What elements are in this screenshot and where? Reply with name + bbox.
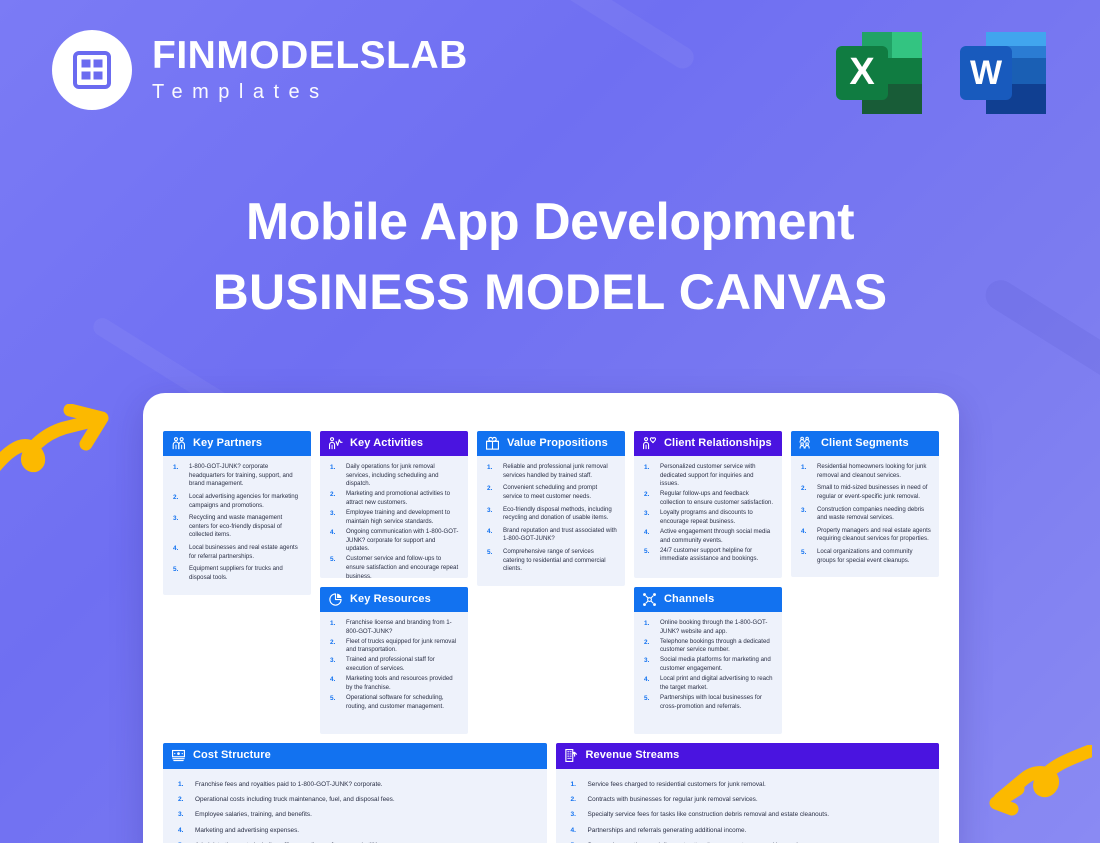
list-item: Marketing and advertising expenses.: [169, 827, 537, 835]
block-key-resources[interactable]: Key Resources Franchise license and bran…: [320, 587, 468, 734]
list-item: Marketing and promotional activities to …: [327, 490, 460, 507]
block-item-list: Reliable and professional junk removal s…: [484, 463, 617, 574]
list-item: Local organizations and community groups…: [798, 548, 931, 565]
block-item-list: Online booking through the 1-800-GOT-JUN…: [641, 619, 774, 711]
block-item-list: Personalized customer service with dedic…: [641, 463, 774, 564]
list-item: Service fees charged to residential cust…: [562, 781, 930, 789]
block-title: Revenue Streams: [586, 749, 680, 762]
block-title: Key Partners: [193, 437, 262, 450]
list-item: Partnerships and referrals generating ad…: [562, 827, 930, 835]
list-item: Loyalty programs and discounts to encour…: [641, 509, 774, 526]
list-item: 1-800-GOT-JUNK? corporate headquarters f…: [170, 463, 303, 489]
list-item: Ongoing communication with 1-800-GOT-JUN…: [327, 528, 460, 554]
person-activity-icon: [328, 436, 343, 451]
block-channels[interactable]: Channels Online booking through the 1-80…: [634, 587, 782, 734]
svg-text:W: W: [970, 54, 1003, 92]
block-header: Key Activities: [320, 431, 468, 456]
list-item: Reliable and professional junk removal s…: [484, 463, 617, 480]
list-item: Recycling and waste management centers f…: [170, 514, 303, 540]
list-item: Franchise license and branding from 1-80…: [327, 619, 460, 636]
block-title: Value Propositions: [507, 437, 608, 450]
list-item: Small to mid-sized businesses in need of…: [798, 484, 931, 501]
list-item: Property managers and real estate agents…: [798, 527, 931, 544]
list-item: Trained and professional staff for execu…: [327, 656, 460, 673]
block-key-partners[interactable]: Key Partners 1-800-GOT-JUNK? corporate h…: [163, 431, 311, 595]
canvas-top-grid: Key Partners 1-800-GOT-JUNK? corporate h…: [163, 431, 939, 734]
canvas-column-2: Key Activities Daily operations for junk…: [320, 431, 468, 734]
file-format-icons: X W: [832, 28, 1050, 120]
canvas-column-3: Value Propositions Reliable and professi…: [477, 431, 625, 734]
block-item-list: Service fees charged to residential cust…: [562, 781, 930, 843]
canvas-bottom-grid: Cost Structure Franchise fees and royalt…: [163, 743, 939, 843]
list-item: Residential homeowners looking for junk …: [798, 463, 931, 480]
page-subtitle: BUSINESS MODEL CANVAS: [0, 261, 1100, 324]
list-item: Partnerships with local businesses for c…: [641, 694, 774, 711]
list-item: Brand reputation and trust associated wi…: [484, 527, 617, 544]
squiggle-arrow-up-right-icon: [0, 404, 122, 487]
block-item-list: Daily operations for junk removal servic…: [327, 463, 460, 578]
list-item: Construction companies needing debris an…: [798, 506, 931, 523]
list-item: Operational costs including truck mainte…: [169, 796, 537, 804]
block-item-list: Franchise license and branding from 1-80…: [327, 619, 460, 711]
svg-text:X: X: [849, 51, 875, 93]
list-item: Equipment suppliers for trucks and dispo…: [170, 565, 303, 582]
building-arrow-icon: [564, 748, 579, 763]
block-body: 1-800-GOT-JUNK? corporate headquarters f…: [163, 456, 311, 595]
list-item: Online booking through the 1-800-GOT-JUN…: [641, 619, 774, 636]
block-item-list: Residential homeowners looking for junk …: [798, 463, 931, 565]
list-item: Regular follow-ups and feedback collecti…: [641, 490, 774, 507]
brand-subtitle: Templates: [152, 81, 468, 104]
list-item: Local advertising agencies for marketing…: [170, 493, 303, 510]
poster-canvas: FINMODELSLAB Templates X W: [0, 0, 1100, 843]
block-header: Key Resources: [320, 587, 468, 612]
block-header: Client Segments: [791, 431, 939, 456]
list-item: Social media platforms for marketing and…: [641, 656, 774, 673]
block-key-activities[interactable]: Key Activities Daily operations for junk…: [320, 431, 468, 578]
money-bill-icon: [171, 748, 186, 763]
block-body: Daily operations for junk removal servic…: [320, 456, 468, 578]
list-item: Franchise fees and royalties paid to 1-8…: [169, 781, 537, 789]
list-item: Specialty service fees for tasks like co…: [562, 811, 930, 819]
people-group-icon: [799, 436, 814, 451]
block-body: Service fees charged to residential cust…: [556, 769, 940, 843]
business-model-canvas-card: Key Partners 1-800-GOT-JUNK? corporate h…: [143, 393, 959, 843]
block-item-list: Franchise fees and royalties paid to 1-8…: [169, 781, 537, 843]
squiggle-arrow-down-left-icon: [966, 745, 1092, 822]
list-item: Employee salaries, training, and benefit…: [169, 811, 537, 819]
excel-icon: X: [832, 28, 926, 120]
brand-name: FINMODELSLAB: [152, 36, 468, 77]
block-body: Franchise license and branding from 1-80…: [320, 612, 468, 734]
pie-chart-icon: [328, 592, 343, 607]
block-header: Value Propositions: [477, 431, 625, 456]
title-block: Mobile App Development BUSINESS MODEL CA…: [0, 192, 1100, 324]
block-title: Channels: [664, 593, 714, 606]
canvas-column-4: Client Relationships Personalized custom…: [634, 431, 782, 734]
list-item: Local print and digital advertising to r…: [641, 675, 774, 692]
brand-logo: FINMODELSLAB Templates: [52, 30, 468, 110]
block-header: Client Relationships: [634, 431, 782, 456]
gift-icon: [485, 436, 500, 451]
block-value-propositions[interactable]: Value Propositions Reliable and professi…: [477, 431, 625, 586]
list-item: Customer service and follow-ups to ensur…: [327, 555, 460, 577]
list-item: Fleet of trucks equipped for junk remova…: [327, 638, 460, 655]
block-cost-structure[interactable]: Cost Structure Franchise fees and royalt…: [163, 743, 547, 843]
list-item: Eco-friendly disposal methods, including…: [484, 506, 617, 523]
person-heart-icon: [642, 436, 657, 451]
block-header: Key Partners: [163, 431, 311, 456]
block-title: Key Resources: [350, 593, 431, 606]
list-item: Telephone bookings through a dedicated c…: [641, 638, 774, 655]
grid-window-icon: [72, 50, 112, 90]
block-title: Client Relationships: [664, 437, 772, 450]
network-nodes-icon: [642, 592, 657, 607]
block-header: Revenue Streams: [556, 743, 940, 769]
logo-circle: [52, 30, 132, 110]
block-revenue-streams[interactable]: Revenue Streams Service fees charged to …: [556, 743, 940, 843]
block-header: Cost Structure: [163, 743, 547, 769]
list-item: Active engagement through social media a…: [641, 528, 774, 545]
block-body: Personalized customer service with dedic…: [634, 456, 782, 578]
list-item: Daily operations for junk removal servic…: [327, 463, 460, 489]
block-title: Cost Structure: [193, 749, 271, 762]
block-body: Reliable and professional junk removal s…: [477, 456, 625, 586]
word-icon: W: [956, 28, 1050, 120]
block-client-relationships[interactable]: Client Relationships Personalized custom…: [634, 431, 782, 578]
block-item-list: 1-800-GOT-JUNK? corporate headquarters f…: [170, 463, 303, 583]
block-body: Franchise fees and royalties paid to 1-8…: [163, 769, 547, 843]
block-title: Client Segments: [821, 437, 909, 450]
block-title: Key Activities: [350, 437, 423, 450]
list-item: Operational software for scheduling, rou…: [327, 694, 460, 711]
list-item: Personalized customer service with dedic…: [641, 463, 774, 489]
list-item: Comprehensive range of services catering…: [484, 548, 617, 574]
block-header: Channels: [634, 587, 782, 612]
list-item: Contracts with businesses for regular ju…: [562, 796, 930, 804]
two-people-icon: [171, 436, 186, 451]
block-body: Online booking through the 1-800-GOT-JUN…: [634, 612, 782, 734]
list-item: 24/7 customer support helpline for immed…: [641, 547, 774, 564]
block-client-segments[interactable]: Client Segments Residential homeowners l…: [791, 431, 939, 577]
canvas-column-5: Client Segments Residential homeowners l…: [791, 431, 939, 734]
list-item: Marketing tools and resources provided b…: [327, 675, 460, 692]
list-item: Local businesses and real estate agents …: [170, 544, 303, 561]
page-title: Mobile App Development: [0, 192, 1100, 253]
block-body: Residential homeowners looking for junk …: [791, 456, 939, 577]
canvas-column-1: Key Partners 1-800-GOT-JUNK? corporate h…: [163, 431, 311, 734]
list-item: Convenient scheduling and prompt service…: [484, 484, 617, 501]
list-item: Employee training and development to mai…: [327, 509, 460, 526]
